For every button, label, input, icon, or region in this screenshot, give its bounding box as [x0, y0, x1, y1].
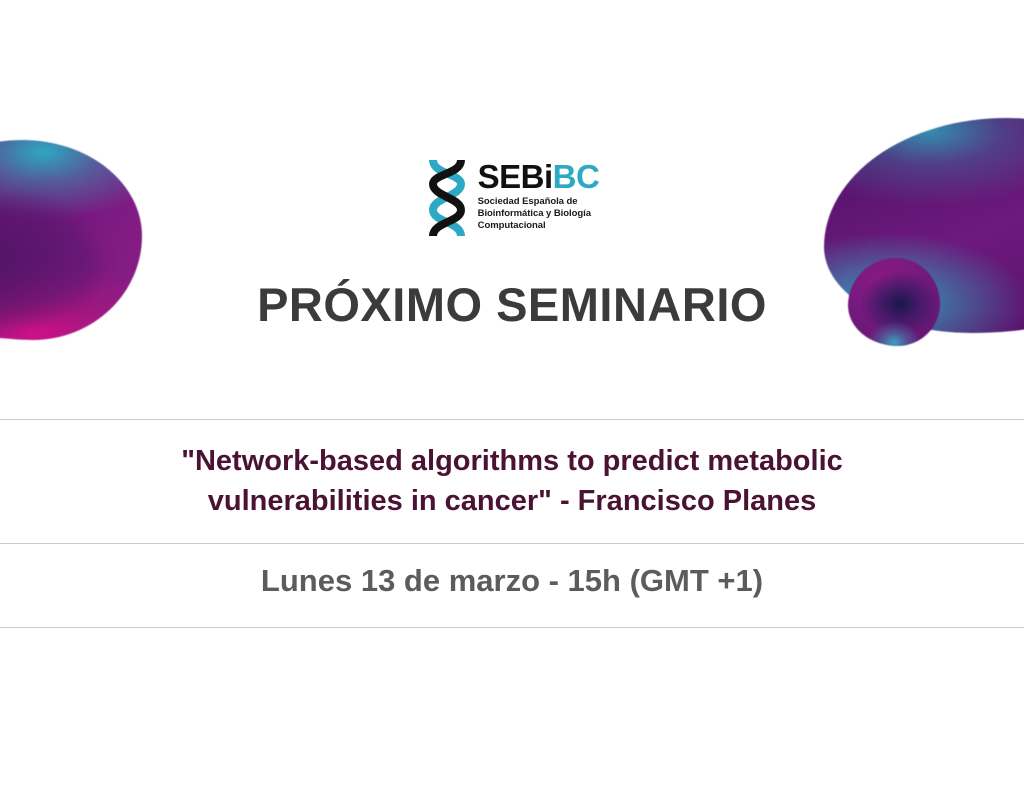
logo-subtitle-line-2: Bioinformática y Biología — [478, 208, 591, 219]
logo-subtitle-line-1: Sociedad Española de — [478, 196, 578, 207]
logo-wordmark-primary: SEBi — [478, 158, 553, 195]
sebibc-logo: SEBiBC Sociedad Española de Bioinformáti… — [0, 158, 1024, 238]
page-title: PRÓXIMO SEMINARIO — [0, 277, 1024, 332]
divider-top — [0, 419, 1024, 420]
seminar-date: Lunes 13 de marzo - 15h (GMT +1) — [0, 563, 1024, 599]
seminar-announcement-poster: SEBiBC Sociedad Española de Bioinformáti… — [0, 0, 1024, 800]
divider-middle — [0, 543, 1024, 544]
logo-subtitle-line-3: Computacional — [478, 220, 546, 231]
logo-text-block: SEBiBC Sociedad Española de Bioinformáti… — [478, 158, 600, 232]
decorative-blob-layer — [0, 0, 1024, 800]
seminar-title-line-2: vulnerabilities in cancer" - Francisco P… — [208, 485, 817, 517]
divider-bottom — [0, 627, 1024, 628]
seminar-title-line-1: "Network-based algorithms to predict met… — [181, 445, 843, 477]
seminar-title: "Network-based algorithms to predict met… — [60, 441, 964, 521]
dna-double-helix-icon — [425, 158, 469, 238]
logo-wordmark: SEBiBC — [478, 160, 600, 193]
logo-wordmark-accent: BC — [553, 158, 600, 195]
logo-subtitle: Sociedad Española de Bioinformática y Bi… — [478, 193, 600, 232]
